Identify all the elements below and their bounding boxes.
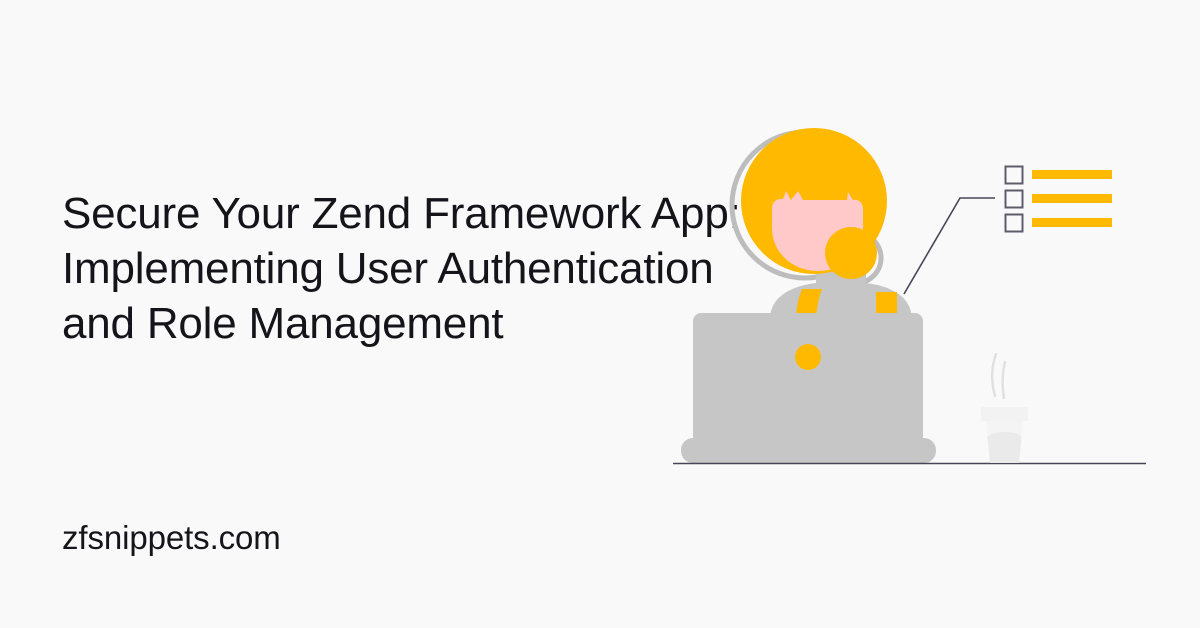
connector-line [904,198,995,294]
hair-bun [825,227,877,279]
coffee-steam [992,354,1005,398]
checkbox-icon[interactable] [1006,191,1023,208]
checklist-item[interactable] [1006,191,1113,208]
coffee-cup [981,407,1028,463]
site-domain-label: zfsnippets.com [62,517,281,559]
checklist-item[interactable] [1006,215,1113,232]
checklist [1006,167,1113,232]
laptop-screen-back [693,313,923,453]
hero-illustration [620,100,1180,520]
task-bar [1032,170,1112,179]
checklist-item[interactable] [1006,167,1113,184]
task-bar [1032,194,1112,203]
social-card: Secure Your Zend Framework App: Implemen… [0,0,1200,628]
task-bar [1032,218,1112,227]
laptop-logo-dot [795,344,821,370]
laptop-base [681,438,936,463]
checkbox-icon[interactable] [1006,215,1023,232]
checkbox-icon[interactable] [1006,167,1023,184]
